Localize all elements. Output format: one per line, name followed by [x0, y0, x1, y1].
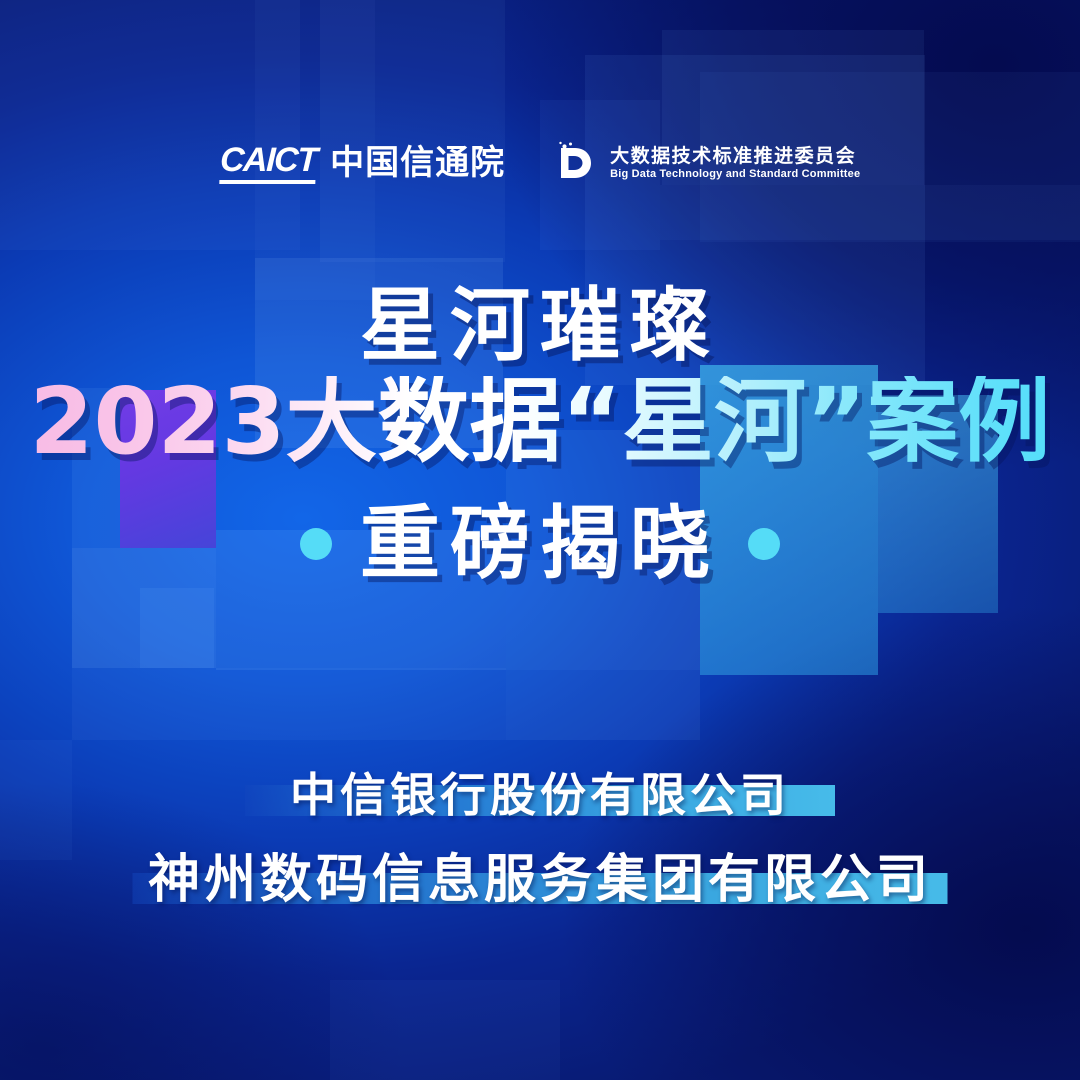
decor-block-top-right-5 [660, 185, 1080, 240]
logo-row: CAICT 中国信通院 大数据技术标准推进委员会 Big Data Techno… [0, 140, 1080, 186]
headline-line-3: 重磅揭晓 [360, 504, 720, 584]
winner-name: 神州数码信息服务集团有限公司 [148, 850, 932, 910]
headline-line-2: 2023大数据“星河”案例 [0, 376, 1080, 468]
winner-name: 中信银行股份有限公司 [290, 768, 790, 822]
caict-wordmark-icon: CAICT [219, 143, 317, 184]
decor-block-left-mid-3 [72, 668, 506, 740]
caict-chinese-name: 中国信通院 [330, 146, 505, 180]
committee-english-name: Big Data Technology and Standard Committ… [610, 169, 860, 180]
stylized-d-logo-icon [551, 140, 597, 186]
winner-row: 神州数码信息服务集团有限公司 [0, 854, 1080, 906]
big-data-committee-text: 大数据技术标准推进委员会 Big Data Technology and Sta… [610, 147, 860, 180]
decor-block-left-mid-4 [140, 588, 214, 668]
cyan-dot-left-icon [300, 528, 332, 560]
headline-line-1: 星河璀璨 [0, 286, 1080, 366]
winners-list: 中信银行股份有限公司 神州数码信息服务集团有限公司 [0, 772, 1080, 942]
caict-logo: CAICT 中国信通院 [220, 143, 505, 184]
headline-group: 星河璀璨 2023大数据“星河”案例 重磅揭晓 [0, 286, 1080, 584]
headline-line-3-row: 重磅揭晓 [0, 504, 1080, 584]
winner-row: 中信银行股份有限公司 [0, 772, 1080, 818]
decor-block-bottom-mid [330, 980, 560, 1080]
big-data-committee-logo: 大数据技术标准推进委员会 Big Data Technology and Sta… [551, 140, 860, 186]
poster-canvas: CAICT 中国信通院 大数据技术标准推进委员会 Big Data Techno… [0, 0, 1080, 1080]
cyan-dot-right-icon [748, 528, 780, 560]
committee-chinese-name: 大数据技术标准推进委员会 [610, 147, 860, 166]
decor-block-center-tall [320, 0, 505, 262]
